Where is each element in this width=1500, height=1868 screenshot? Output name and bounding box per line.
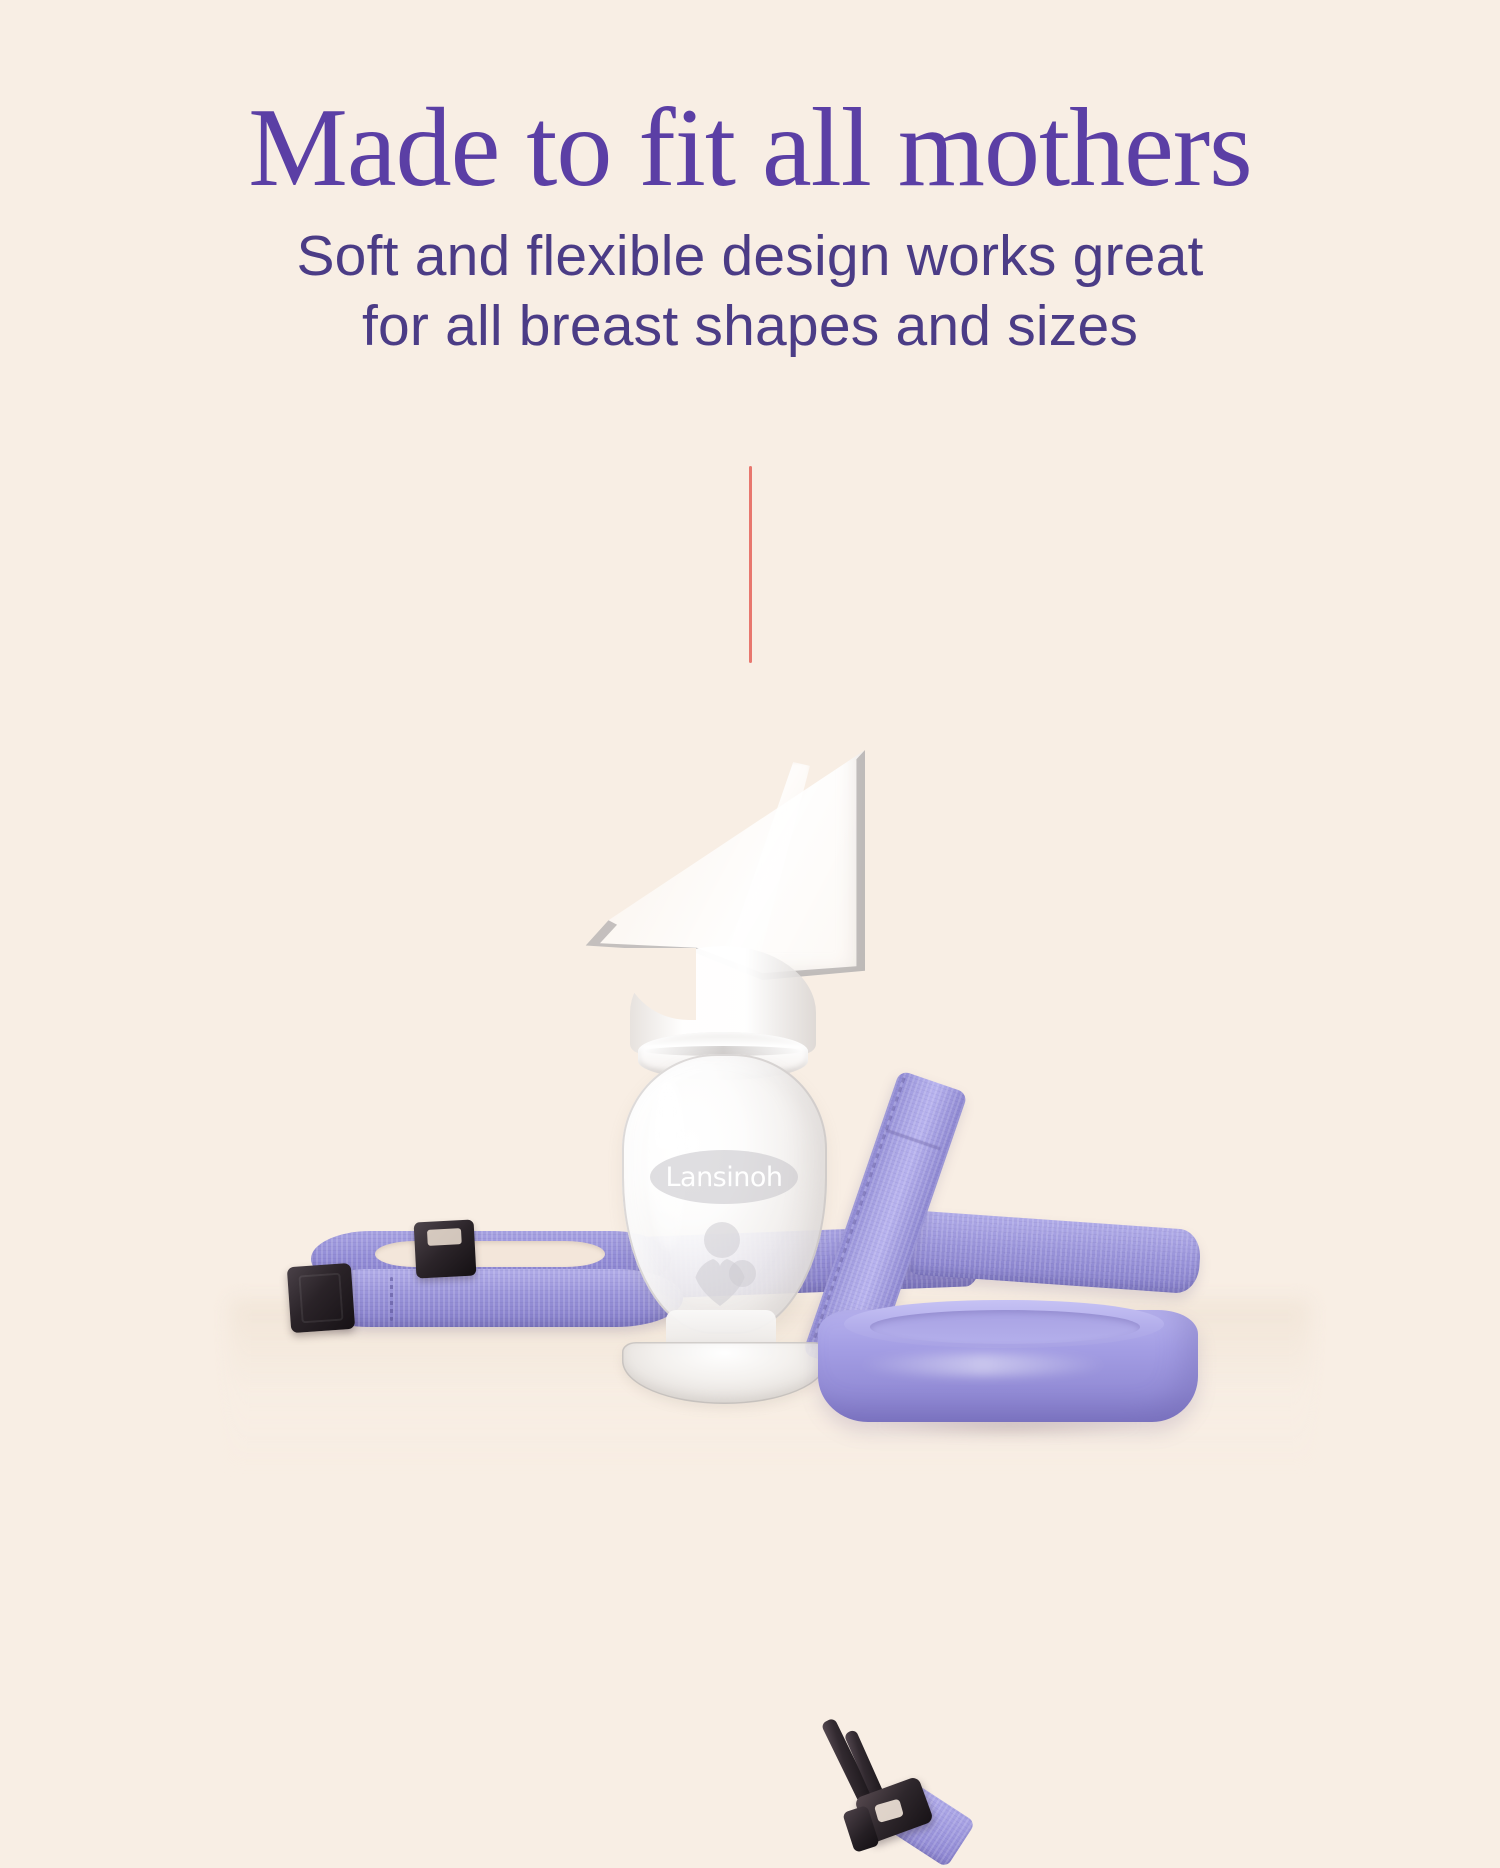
brand-wordmark: Lansinoh [665, 1164, 782, 1191]
strap-stitching [390, 1277, 393, 1321]
logo-baby-head [729, 1260, 756, 1287]
lid-highlight [858, 1354, 1108, 1376]
brand-badge: Lansinoh [650, 1150, 798, 1204]
page-subtitle: Soft and flexible design works great for… [0, 222, 1500, 361]
strap-buckle-right [414, 1219, 477, 1278]
logo-mother-head [704, 1222, 740, 1258]
silicone-breast-pump: Lansinoh [570, 750, 870, 1370]
vertical-accent-rule [749, 466, 752, 663]
subtitle-line-1: Soft and flexible design works great [296, 224, 1203, 288]
strap-buckle-left [287, 1263, 355, 1333]
mother-and-baby-heart-logo [688, 1222, 760, 1306]
protective-lid [818, 1300, 1198, 1426]
product-photo: Lansinoh [0, 700, 1500, 1500]
subtitle-line-2: for all breast shapes and sizes [0, 292, 1500, 362]
lid-inner-recess [870, 1310, 1140, 1344]
page-title: Made to fit all mothers [0, 92, 1500, 204]
strap-clasp [828, 1712, 938, 1842]
